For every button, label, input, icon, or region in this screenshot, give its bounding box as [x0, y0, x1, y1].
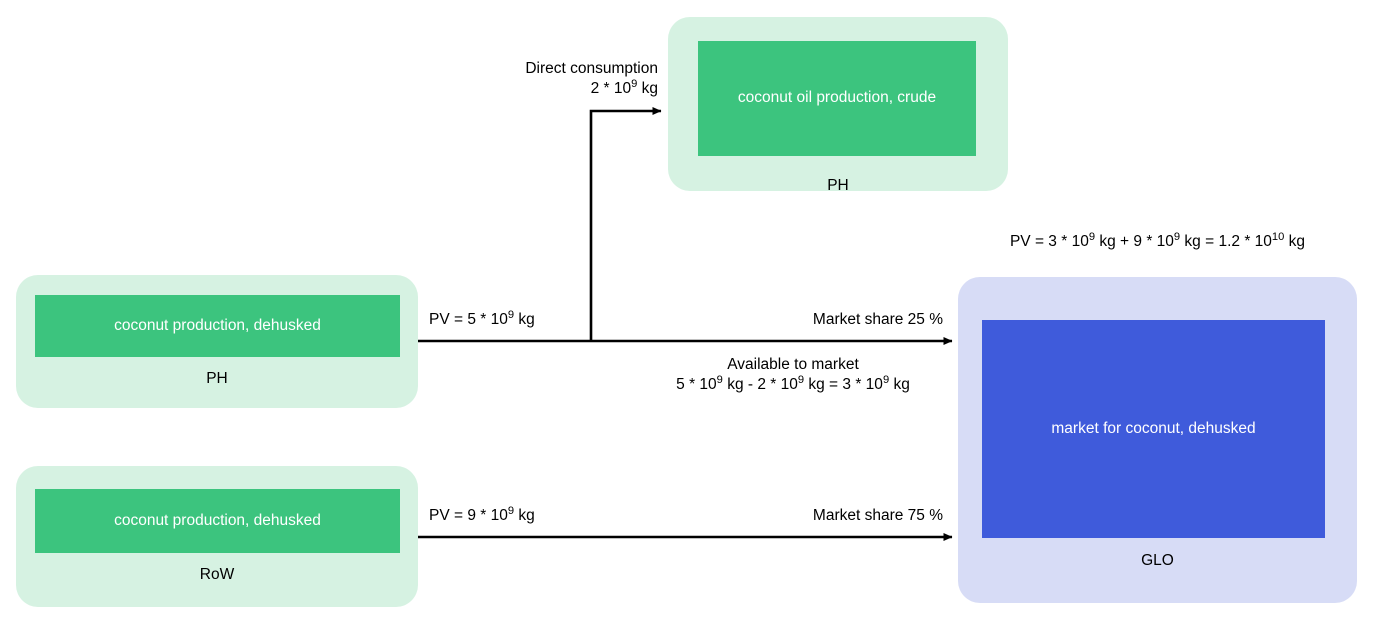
node-coconut-production-ph[interactable]: coconut production, dehusked PH	[16, 275, 418, 408]
node-label-coconut-oil-production-ph: coconut oil production, crude	[698, 41, 976, 156]
node-geography-coconut-oil-production-ph: PH	[668, 177, 1008, 195]
edge-label-available-body: 5 * 109 kg - 2 * 109 kg = 3 * 109 kg	[643, 375, 943, 395]
annotation-market-pv: PV = 3 * 109 kg + 9 * 109 kg = 1.2 * 101…	[958, 232, 1357, 252]
edge-label-direct-consumption-value: 2 * 109 kg	[398, 79, 658, 99]
edge-label-market-share-25: Market share 25 %	[700, 310, 943, 330]
node-geography-coconut-production-ph: PH	[16, 370, 418, 388]
node-label-market-coconut-glo: market for coconut, dehusked	[982, 320, 1325, 538]
edge-label-direct-consumption: Direct consumption 2 * 109 kg	[398, 59, 658, 99]
diagram-canvas: coconut oil production, crude PH coconut…	[0, 0, 1376, 632]
node-label-coconut-production-row: coconut production, dehusked	[35, 489, 400, 553]
node-market-coconut-glo[interactable]: market for coconut, dehusked GLO	[958, 277, 1357, 603]
exponent: 10	[1272, 231, 1284, 243]
edge-label-available-title: Available to market	[643, 355, 943, 375]
edge-ph-to-oil	[591, 111, 661, 341]
edge-label-direct-consumption-title: Direct consumption	[398, 59, 658, 79]
node-coconut-oil-production-ph[interactable]: coconut oil production, crude PH	[668, 17, 1008, 191]
edge-label-available-to-market: Available to market 5 * 109 kg - 2 * 109…	[643, 355, 943, 395]
edge-label-market-share-75: Market share 75 %	[700, 506, 943, 526]
node-label-coconut-production-ph: coconut production, dehusked	[35, 295, 400, 357]
edge-label-pv-ph: PV = 5 * 109 kg	[429, 310, 535, 330]
node-geography-coconut-production-row: RoW	[16, 566, 418, 584]
node-geography-market-coconut-glo: GLO	[958, 552, 1357, 570]
node-coconut-production-row[interactable]: coconut production, dehusked RoW	[16, 466, 418, 607]
edge-label-pv-row: PV = 9 * 109 kg	[429, 506, 535, 526]
